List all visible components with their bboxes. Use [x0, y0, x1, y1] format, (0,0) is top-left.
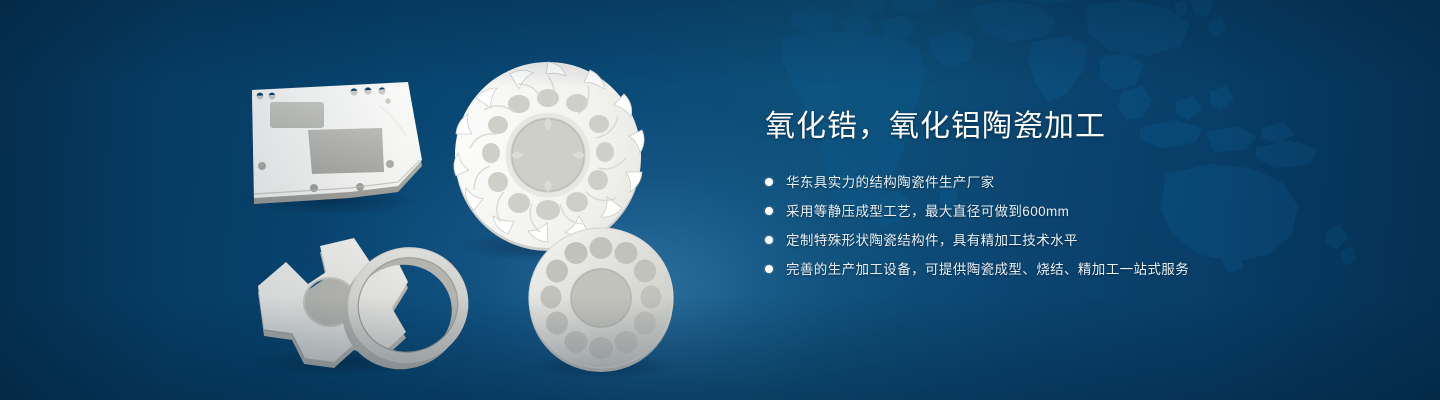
- feature-text: 完善的生产加工设备，可提供陶瓷成型、烧结、精加工一站式服务: [786, 259, 1189, 280]
- feature-list: 华东具实力的结构陶瓷件生产厂家 采用等静压成型工艺，最大直径可做到600mm 定…: [765, 172, 1325, 280]
- hero-banner: 氧化锆，氧化铝陶瓷加工 华东具实力的结构陶瓷件生产厂家 采用等静压成型工艺，最大…: [0, 0, 1440, 400]
- page-title: 氧化锆，氧化铝陶瓷加工: [765, 108, 1325, 146]
- banner-text-block: 氧化锆，氧化铝陶瓷加工 华东具实力的结构陶瓷件生产厂家 采用等静压成型工艺，最大…: [765, 108, 1325, 280]
- list-item: 采用等静压成型工艺，最大直径可做到600mm: [765, 201, 1325, 222]
- product-photo-cluster: [230, 40, 700, 380]
- ceramic-hole-disc: [230, 40, 700, 380]
- bullet-dot-icon: [765, 178, 773, 186]
- feature-text: 华东具实力的结构陶瓷件生产厂家: [786, 172, 995, 193]
- list-item: 华东具实力的结构陶瓷件生产厂家: [765, 172, 1325, 193]
- list-item: 定制特殊形状陶瓷结构件，具有精加工技术水平: [765, 230, 1325, 251]
- bullet-dot-icon: [765, 265, 773, 273]
- bullet-dot-icon: [765, 207, 773, 215]
- feature-text: 定制特殊形状陶瓷结构件，具有精加工技术水平: [786, 230, 1078, 251]
- list-item: 完善的生产加工设备，可提供陶瓷成型、烧结、精加工一站式服务: [765, 259, 1325, 280]
- feature-text: 采用等静压成型工艺，最大直径可做到600mm: [786, 201, 1069, 222]
- bullet-dot-icon: [765, 236, 773, 244]
